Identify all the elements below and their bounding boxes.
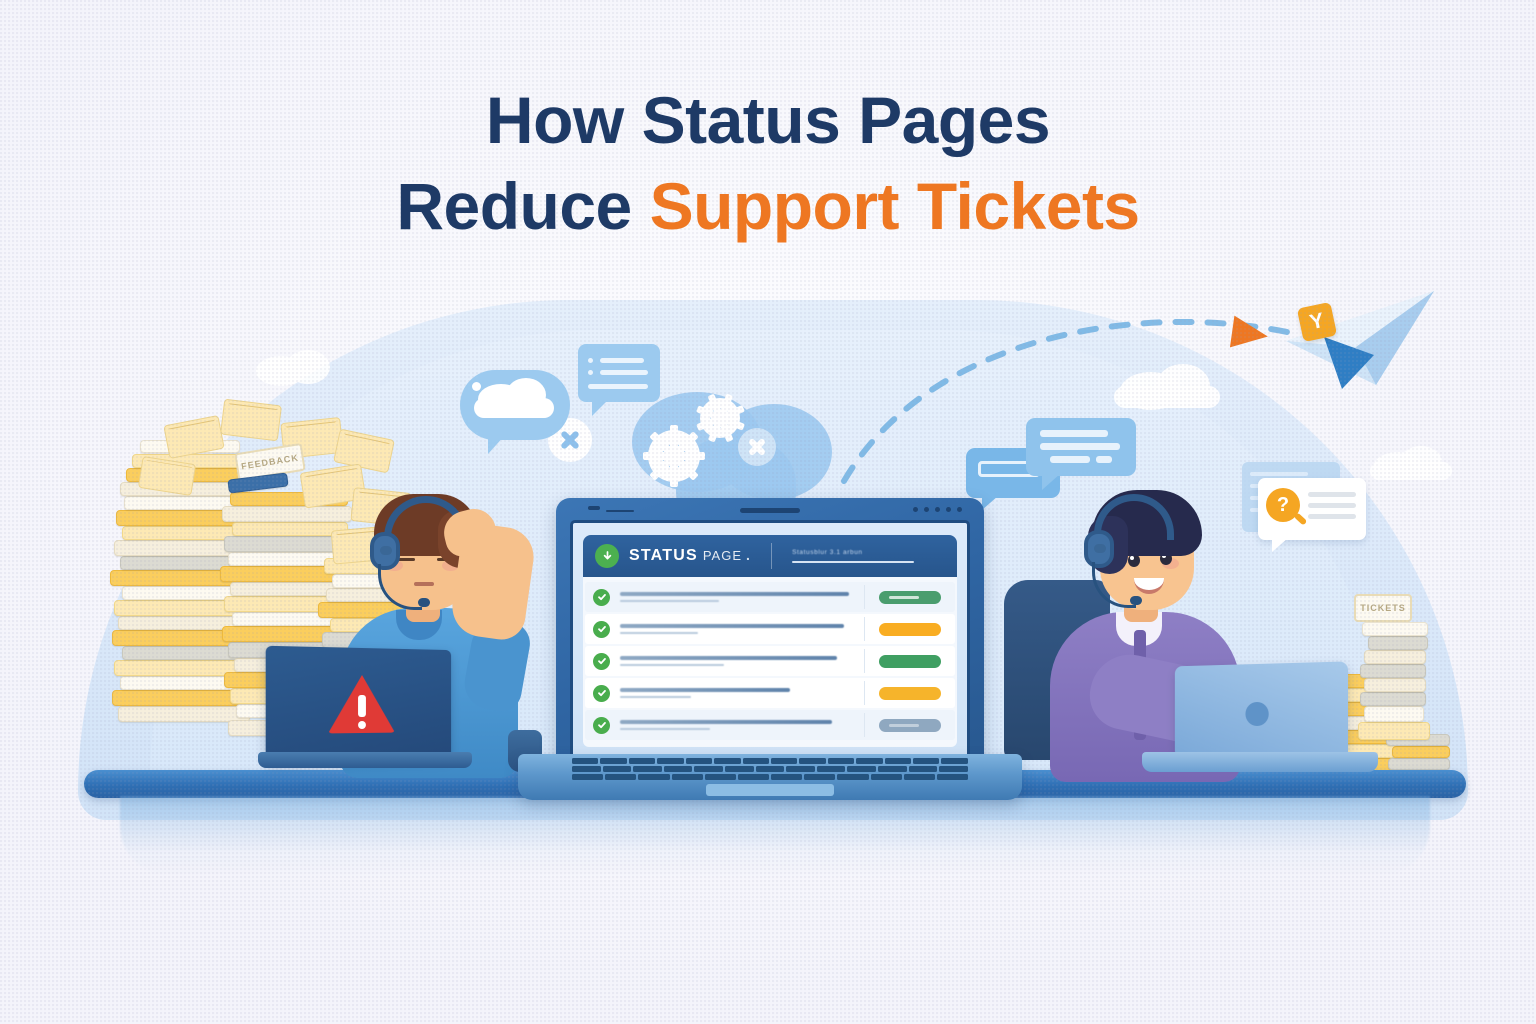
table-row[interactable] [585, 710, 955, 740]
x-mark-icon [738, 428, 776, 466]
check-circle-icon [593, 685, 610, 702]
center-laptop: STATUSPAGE. Statusblur 3.1 arbun [556, 498, 984, 798]
headset-mic-icon [378, 564, 422, 610]
status-badge-cell[interactable] [873, 623, 947, 636]
status-page-title: STATUSPAGE. [629, 547, 751, 565]
headset-bud-icon [380, 546, 392, 555]
card-line [1308, 514, 1356, 519]
title-line-1: How Status Pages [0, 78, 1536, 164]
warning-triangle-icon [328, 675, 395, 734]
header-divider [771, 543, 772, 569]
list-line [600, 370, 648, 375]
status-badge-cell[interactable] [873, 719, 947, 732]
table-row[interactable] [585, 582, 955, 612]
laptop-keyboard[interactable] [572, 758, 968, 782]
check-circle-icon [593, 589, 610, 606]
list-bullet-icon [588, 370, 593, 375]
headset-bud-icon [1094, 544, 1106, 553]
light-blue-laptop [1160, 664, 1370, 784]
status-badge[interactable] [879, 687, 941, 700]
headset-mic-tip-icon [1130, 596, 1142, 605]
check-circle-icon [593, 621, 610, 638]
laptop-base [1142, 752, 1378, 772]
card-line [1308, 492, 1356, 497]
status-page-title-light: PAGE [703, 548, 742, 563]
check-circle-icon [593, 653, 610, 670]
download-circle-icon [595, 544, 619, 568]
bezel-detail [606, 510, 634, 512]
cloud-bubble-tail [488, 434, 506, 454]
card-line [1308, 503, 1356, 508]
row-text-placeholder [620, 688, 856, 699]
warning-dot-icon [358, 721, 366, 729]
laptop-lid: STATUSPAGE. Statusblur 3.1 arbun [556, 498, 984, 770]
list-bullet-icon [588, 358, 593, 363]
status-badge-cell[interactable] [873, 687, 947, 700]
laptop-screen: STATUSPAGE. Statusblur 3.1 arbun [570, 520, 970, 760]
laptop-base [258, 752, 472, 768]
status-badge[interactable] [879, 719, 941, 732]
check-circle-icon [593, 717, 610, 734]
row-text-placeholder [620, 624, 856, 635]
row-divider [864, 585, 865, 609]
gear-icon [648, 430, 700, 482]
gear-icon [700, 398, 740, 438]
status-badge[interactable] [879, 591, 941, 604]
row-text-placeholder [620, 720, 856, 731]
row-divider [864, 681, 865, 705]
laptop-base [518, 754, 1022, 800]
cloud-icon [1370, 462, 1452, 480]
status-page-header: STATUSPAGE. Statusblur 3.1 arbun [583, 535, 957, 577]
chat-line [1040, 430, 1108, 437]
title-line-2: Reduce Support Tickets [0, 164, 1536, 250]
laptop-logo-icon [1245, 702, 1268, 726]
plane-badge-icon: Y [1297, 302, 1337, 342]
table-row[interactable] [585, 646, 955, 676]
desk-reflection [120, 796, 1430, 876]
status-page-meta-bar [792, 561, 914, 563]
status-badge-cell[interactable] [873, 591, 947, 604]
table-row[interactable] [585, 678, 955, 708]
magnifier-handle-icon [1294, 512, 1308, 525]
title-line-2-prefix: Reduce [396, 169, 649, 243]
list-line [600, 358, 644, 363]
laptop-lid [1175, 661, 1348, 762]
row-divider [864, 649, 865, 673]
ticket-stack-label: TICKETS [1354, 594, 1412, 622]
envelope-icon [220, 399, 282, 442]
list-line [588, 384, 648, 389]
cloud-speech-bubble [460, 370, 570, 440]
row-divider [864, 713, 865, 737]
status-page-title-dot: . [746, 547, 751, 563]
dark-laptop-with-alert [268, 648, 468, 774]
webcam-icon [588, 506, 600, 510]
plane-trail-fin-icon [1230, 316, 1270, 353]
row-text-placeholder [620, 592, 856, 603]
speaker-grill-icon [740, 508, 800, 513]
laptop-lid [266, 646, 451, 763]
chat-line [1050, 456, 1090, 463]
laptop-trackpad[interactable] [706, 784, 834, 796]
status-page-meta: Statusblur 3.1 arbun [792, 549, 945, 563]
chat-list-bubble-tail [592, 400, 608, 416]
chat-line [1096, 456, 1112, 463]
bezel-indicator-dots [913, 507, 962, 512]
cloud-icon [474, 398, 554, 418]
warning-exclamation-icon [358, 695, 366, 717]
chat-bubble-tail [982, 496, 998, 510]
status-page-rows[interactable] [583, 577, 957, 747]
status-badge-cell[interactable] [873, 655, 947, 668]
chat-line [1040, 443, 1120, 450]
paper-plane-icon [1278, 285, 1438, 395]
status-badge[interactable] [879, 623, 941, 636]
title-line-2-accent: Support Tickets [650, 169, 1140, 243]
chat-bubble-icon [1026, 418, 1136, 476]
chat-list-bubble [578, 344, 660, 402]
status-page-title-bold: STATUS [629, 547, 698, 564]
status-badge[interactable] [879, 655, 941, 668]
table-row[interactable] [585, 614, 955, 644]
headset-mic-tip-icon [418, 598, 430, 607]
cloud-dot-icon [472, 382, 481, 391]
page-title: How Status Pages Reduce Support Tickets [0, 78, 1536, 250]
row-divider [864, 617, 865, 641]
row-text-placeholder [620, 656, 856, 667]
status-page-meta-text: Statusblur 3.1 arbun [792, 549, 945, 556]
illustration-canvas: ? Y [0, 0, 1536, 1024]
